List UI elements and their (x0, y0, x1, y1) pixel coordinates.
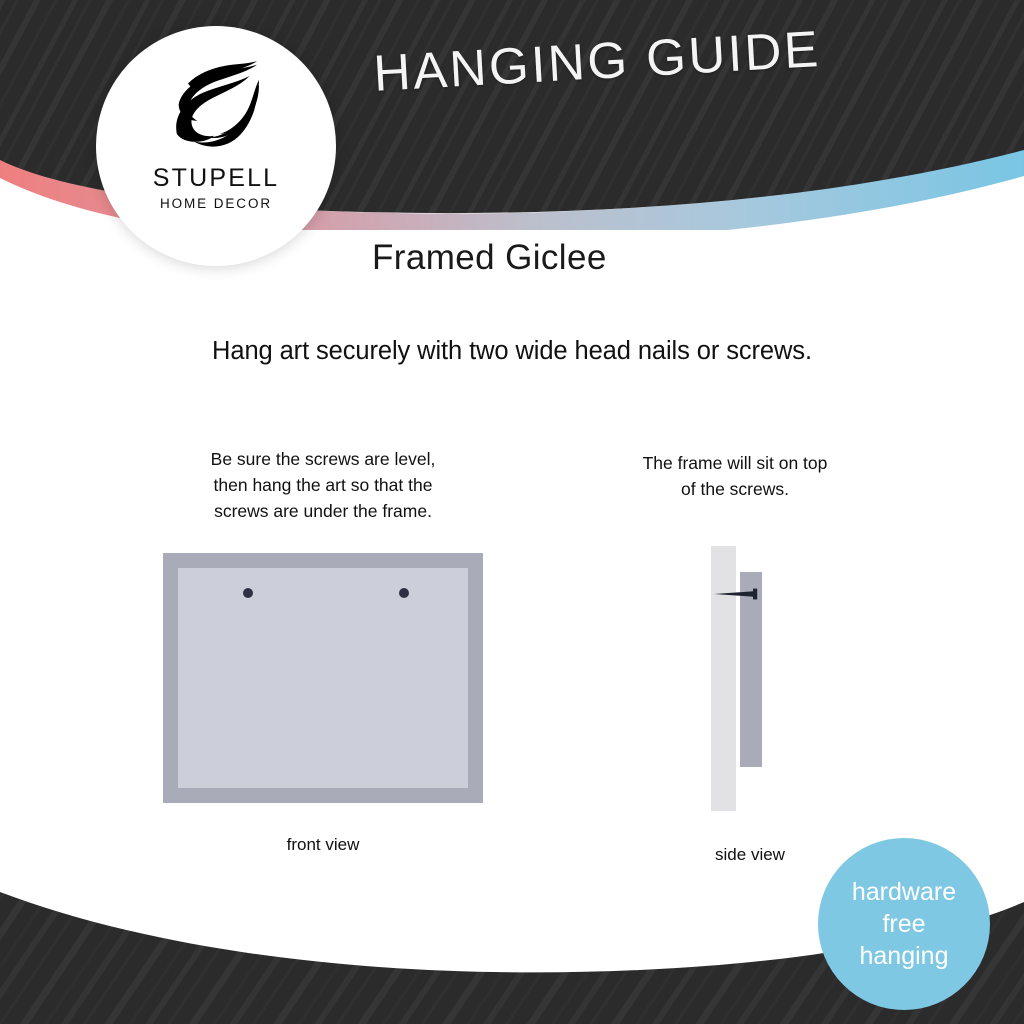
logo-wordmark: STUPELL (153, 164, 280, 193)
nail-icon (714, 588, 764, 600)
screw-dot-icon (399, 588, 409, 598)
page-title: HANGING GUIDE (372, 19, 822, 103)
front-view-label: front view (243, 835, 403, 855)
badge-line: hanging (860, 940, 949, 972)
hardware-free-hanging-badge: hardware free hanging (818, 838, 990, 1010)
side-view-caption: The frame will sit on top of the screws. (588, 450, 882, 502)
front-view-mat (178, 568, 468, 788)
side-view-frame (740, 572, 762, 767)
caption-line: of the screws. (588, 476, 882, 502)
logo-subwordmark: HOME DECOR (160, 196, 272, 211)
front-view-caption: Be sure the screws are level, then hang … (143, 446, 503, 524)
screw-dot-icon (243, 588, 253, 598)
front-view-diagram (163, 553, 483, 803)
caption-line: Be sure the screws are level, (143, 446, 503, 472)
product-subtitle: Framed Giclee (372, 238, 607, 278)
main-instruction: Hang art securely with two wide head nai… (0, 337, 1024, 366)
caption-line: then hang the art so that the (143, 472, 503, 498)
caption-line: screws are under the frame. (143, 498, 503, 524)
side-view-label: side view (670, 845, 830, 865)
badge-line: hardware (852, 876, 956, 908)
logo-badge: STUPELL HOME DECOR (96, 26, 336, 266)
side-view-diagram (700, 543, 800, 815)
stupell-swoosh-icon (160, 48, 272, 160)
caption-line: The frame will sit on top (588, 450, 882, 476)
badge-line: free (882, 908, 925, 940)
hanging-guide-page: STUPELL HOME DECOR HANGING GUIDE Framed … (0, 0, 1024, 1024)
side-view-wall (711, 546, 736, 811)
